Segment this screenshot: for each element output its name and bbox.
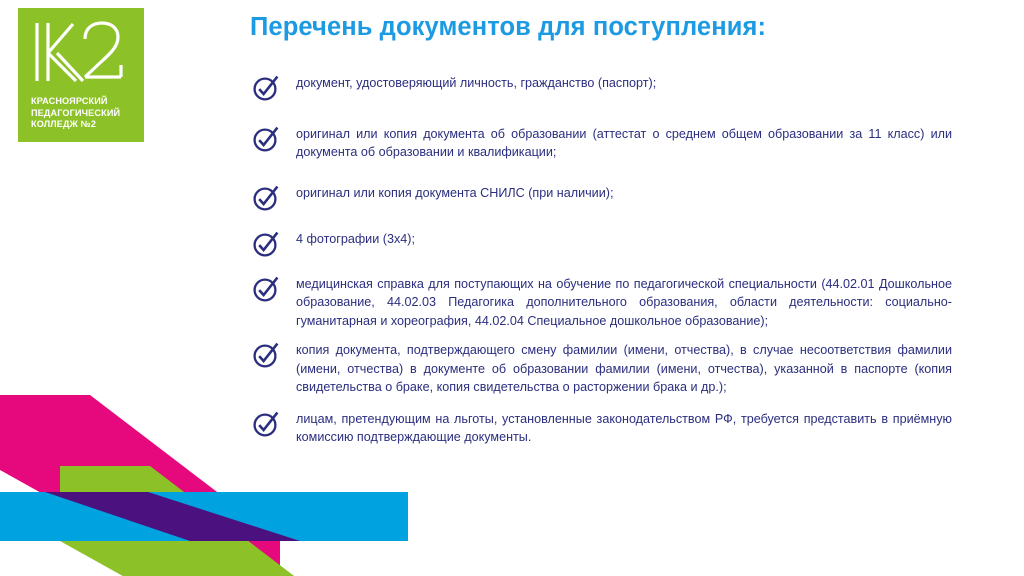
magenta-diagonal-band: [0, 395, 280, 576]
check-circle-icon: [252, 230, 280, 258]
list-item-text: копия документа, подтверждающего смену ф…: [252, 341, 952, 397]
list-item-text: документ, удостоверяющий личность, гражд…: [252, 74, 952, 93]
college-logo: КРАСНОЯРСКИЙ ПЕДАГОГИЧЕСКИЙ КОЛЛЕДЖ №2: [18, 8, 144, 142]
list-item: медицинская справка для поступающих на о…: [252, 275, 952, 331]
list-item: оригинал или копия документа об образова…: [252, 125, 952, 162]
check-circle-icon: [252, 74, 280, 102]
check-circle-icon: [252, 275, 280, 303]
check-circle-icon: [252, 341, 280, 369]
list-item: 4 фотографии (3х4);: [252, 230, 952, 249]
purple-overlap-shape: [45, 492, 300, 541]
list-item: оригинал или копия документа СНИЛС (при …: [252, 184, 952, 203]
cyan-horizontal-bar: [0, 492, 408, 541]
list-item-text: оригинал или копия документа СНИЛС (при …: [252, 184, 952, 203]
documents-list: документ, удостоверяющий личность, гражд…: [252, 74, 952, 447]
slide-canvas: КРАСНОЯРСКИЙ ПЕДАГОГИЧЕСКИЙ КОЛЛЕДЖ №2 П…: [0, 0, 1024, 576]
check-circle-icon: [252, 410, 280, 438]
list-item-text: оригинал или копия документа об образова…: [252, 125, 952, 162]
list-item-text: медицинская справка для поступающих на о…: [252, 275, 952, 331]
logo-caption: КРАСНОЯРСКИЙ ПЕДАГОГИЧЕСКИЙ КОЛЛЕДЖ №2: [31, 96, 141, 131]
green-diagonal-band: [60, 466, 340, 576]
list-item: документ, удостоверяющий личность, гражд…: [252, 74, 952, 93]
k2-logomark-icon: [32, 20, 130, 86]
list-item-text: 4 фотографии (3х4);: [252, 230, 952, 249]
page-title: Перечень документов для поступления:: [250, 13, 950, 42]
list-item: копия документа, подтверждающего смену ф…: [252, 341, 952, 397]
check-circle-icon: [252, 125, 280, 153]
check-circle-icon: [252, 184, 280, 212]
list-item: лицам, претендующим на льготы, установле…: [252, 410, 952, 447]
list-item-text: лицам, претендующим на льготы, установле…: [252, 410, 952, 447]
